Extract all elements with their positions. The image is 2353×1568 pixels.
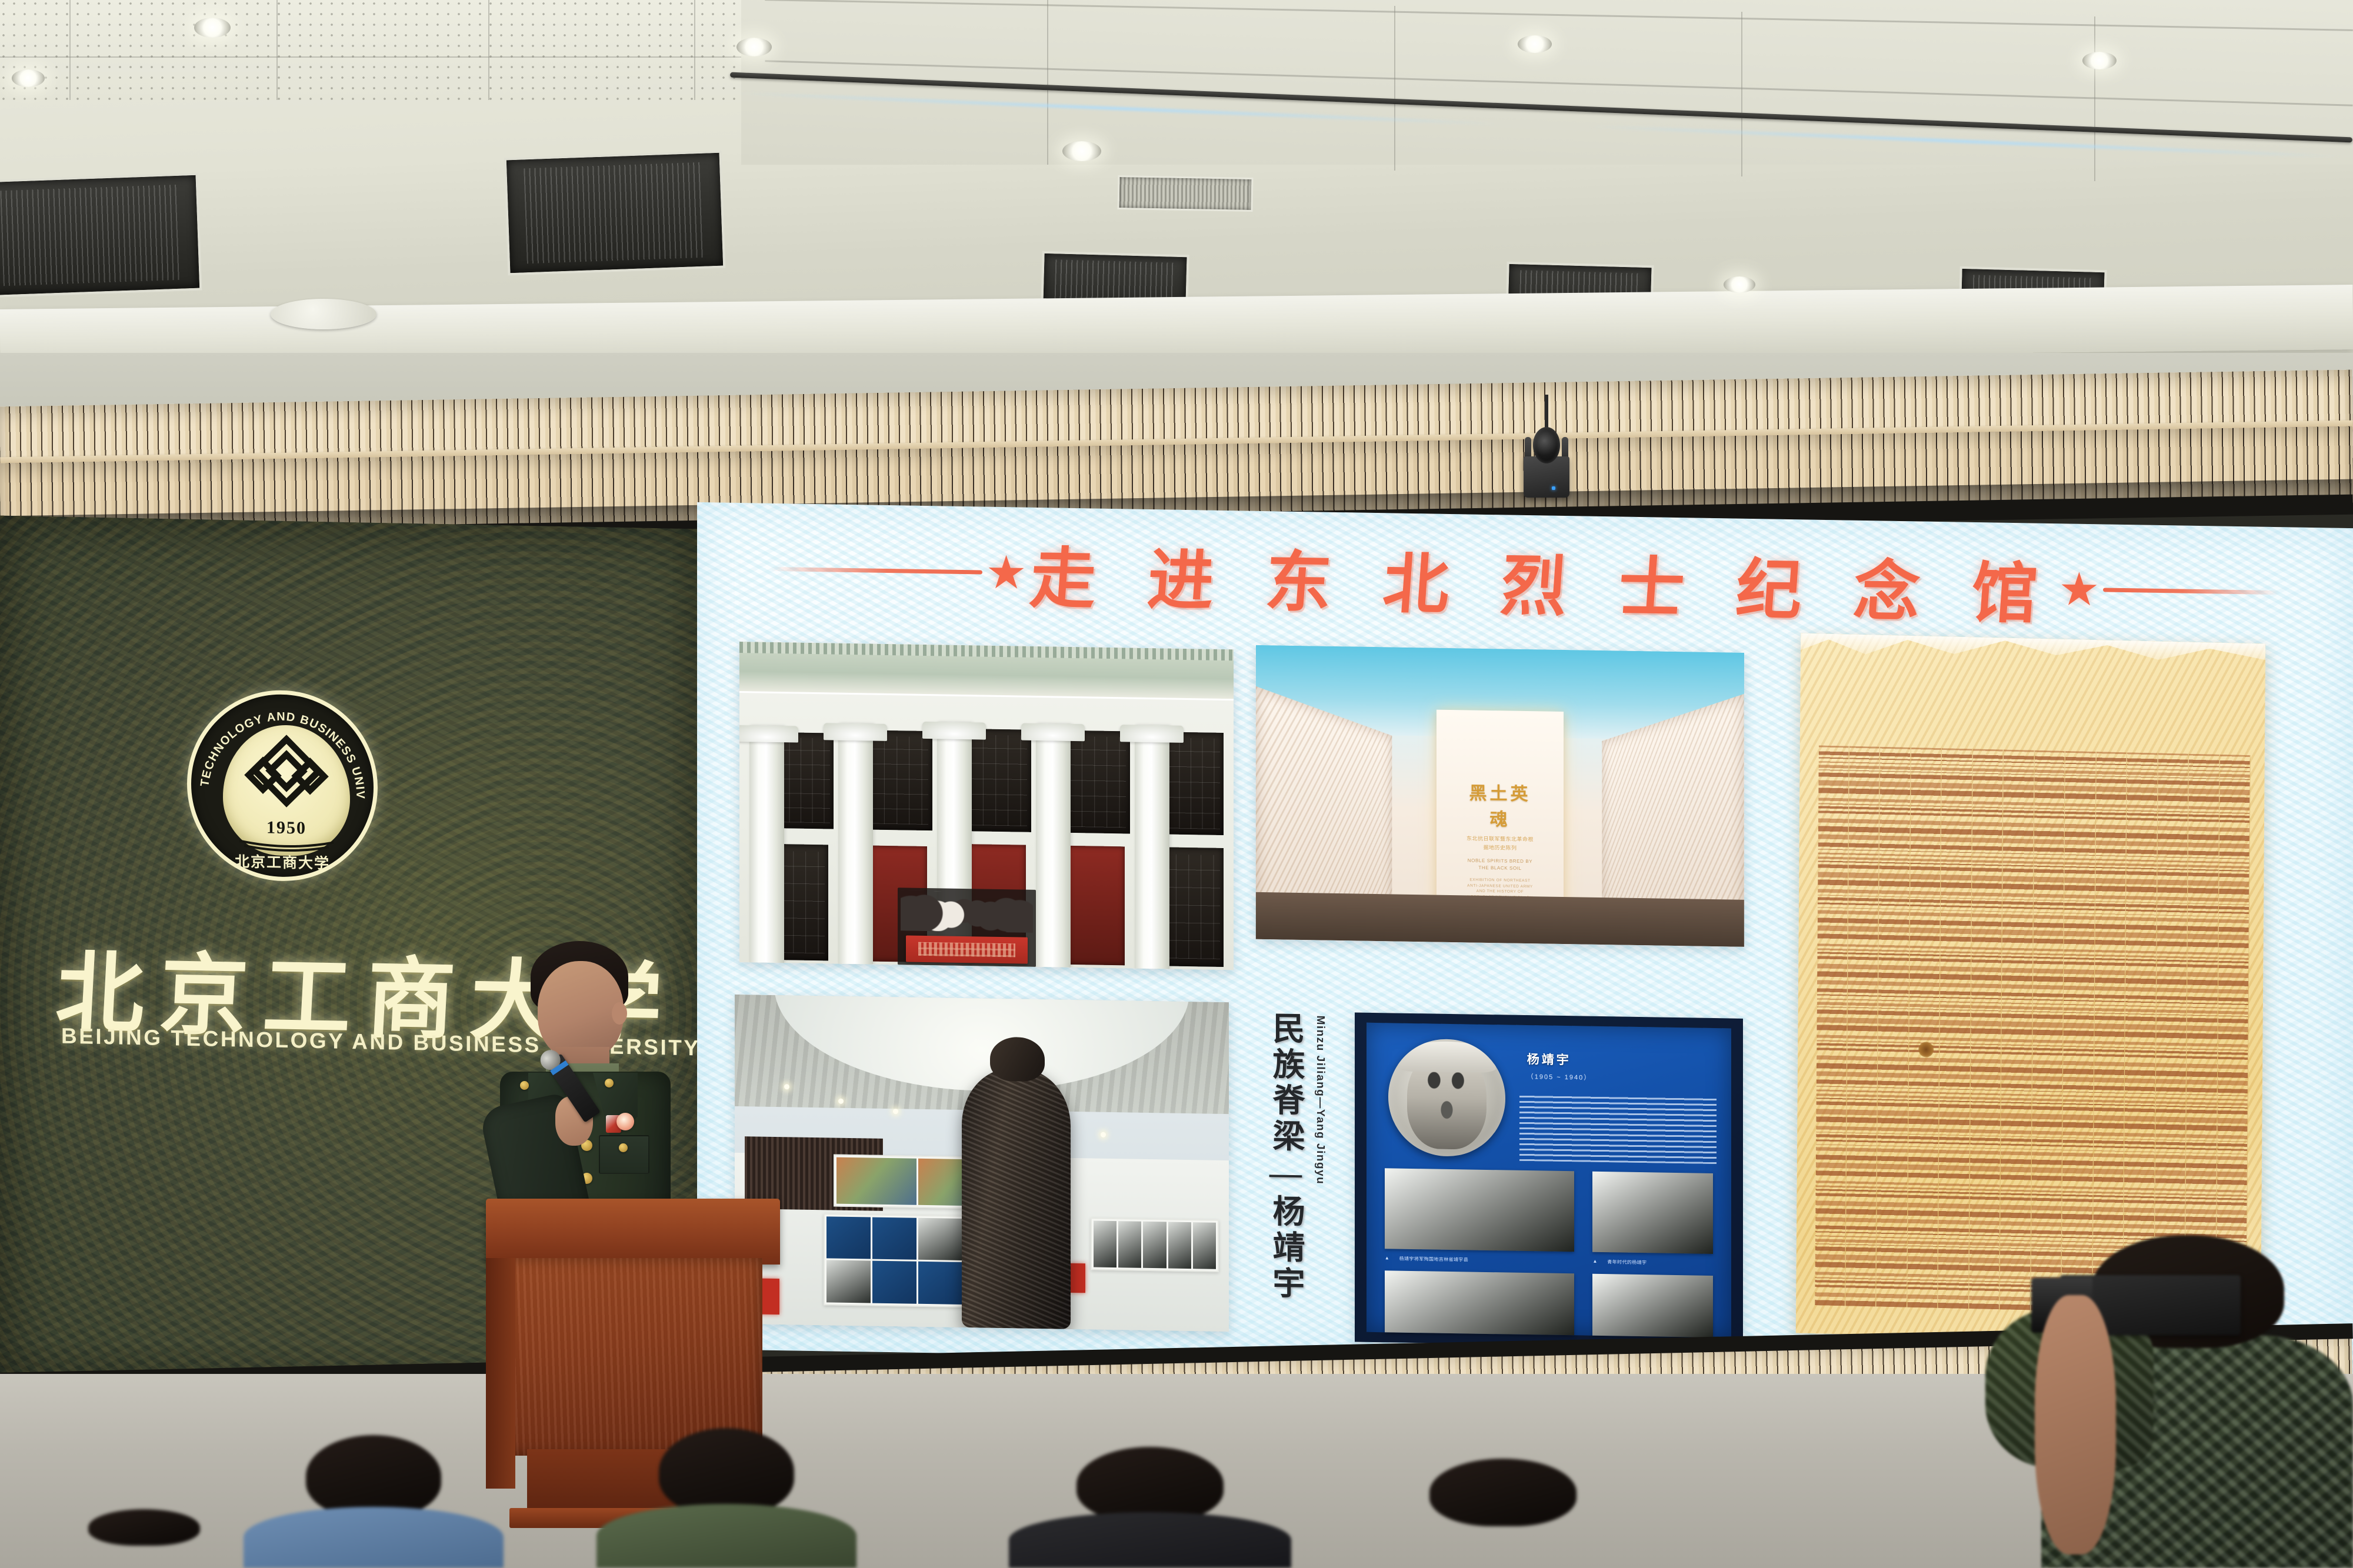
letter-column xyxy=(1969,749,2004,1310)
audience-head xyxy=(1076,1447,1224,1522)
letter-column xyxy=(2185,754,2219,1315)
hall-spotlight xyxy=(893,1109,898,1115)
photographer-hand xyxy=(2035,1295,2116,1554)
board-tile xyxy=(1193,1222,1216,1269)
podium-front-panel xyxy=(504,1258,762,1456)
auditorium-scene: BEIJING TECHNOLOGY AND BUSINESS UNIVERSI… xyxy=(0,0,2353,1568)
letter-column xyxy=(2092,752,2127,1312)
facade-window xyxy=(868,730,932,831)
photo-exhibition-entrance: 黑土英魂 东北抗日联军暨东北革命根据地历史陈列 NOBLE SPIRITS BR… xyxy=(1256,645,1744,947)
facade-dentil-course xyxy=(739,642,1234,660)
board-tile xyxy=(1118,1221,1141,1268)
hvac-supply-vent xyxy=(1118,175,1254,212)
star-icon: ★ xyxy=(986,549,1027,596)
yjy-archive-photo xyxy=(1592,1172,1713,1254)
yjy-portrait-cap xyxy=(1398,1041,1496,1073)
facade-window xyxy=(1065,730,1129,833)
hall-spotlight xyxy=(838,1098,844,1103)
speaker-ear xyxy=(612,1002,627,1025)
ceiling-downlight xyxy=(2082,52,2117,69)
facade-window xyxy=(966,729,1031,832)
letter-column xyxy=(1907,748,1942,1308)
yjy-caption-marker: ▲ xyxy=(1592,1258,1597,1263)
photographer xyxy=(2041,1235,2353,1568)
board-tile xyxy=(1094,1220,1116,1267)
yjy-photo-caption: 青年时代的杨靖宇 xyxy=(1607,1259,1647,1266)
audience-member xyxy=(88,1509,200,1568)
title-rule-right xyxy=(2103,588,2279,595)
audience-shoulders xyxy=(244,1507,504,1568)
star-icon: ★ xyxy=(2059,566,2100,612)
letter-column xyxy=(2124,753,2158,1313)
ceiling xyxy=(0,0,2353,376)
ceiling-tile-seam xyxy=(69,0,71,100)
audience-shoulders xyxy=(596,1504,856,1568)
board-tile xyxy=(872,1261,916,1304)
speaker-pocket-button xyxy=(619,1143,628,1152)
letter-text-columns xyxy=(1815,746,2251,1316)
letter-column xyxy=(2216,755,2251,1315)
board-tile xyxy=(872,1217,916,1260)
photo-memorial-hall-facade: 东 北 烈 士 纪 念 馆 xyxy=(739,642,1234,970)
audience-member xyxy=(1076,1447,1224,1568)
university-logo: BEIJING TECHNOLOGY AND BUSINESS UNIVERSI… xyxy=(187,689,378,883)
letter-column xyxy=(1845,746,1880,1307)
audience-member xyxy=(659,1428,794,1568)
ceiling-downlight xyxy=(1518,35,1552,53)
board-tile xyxy=(918,1262,962,1305)
yjy-photo-caption: 杨靖宇将军殉国地吉林省靖宇县 xyxy=(1399,1255,1469,1263)
audience-head xyxy=(1429,1459,1577,1526)
slide-title-row: ★ 走 进 东 北 烈 士 纪 念 馆 ★ xyxy=(697,529,2353,632)
smoke-detector-icon xyxy=(271,299,376,329)
letter-column xyxy=(1815,746,1849,1306)
photo-yang-jingyu-board: 杨靖宇 （1905 ~ 1940） ▲ 杨靖宇将军殉国地吉林省靖宇县 ▲ 青年时… xyxy=(1355,1012,1743,1347)
board-tile xyxy=(1168,1222,1191,1269)
ceiling-downlight xyxy=(736,38,772,56)
facade-column xyxy=(838,723,873,965)
ceiling-downlight xyxy=(194,18,231,38)
letter-column xyxy=(1877,747,1911,1307)
podium-side-panel xyxy=(486,1258,515,1489)
exhibit-floor xyxy=(1256,892,1744,947)
vertical-exhibit-label: 民族脊梁—杨靖宇 Minzu Jiliang—Yang Jingyu xyxy=(1244,1010,1344,1318)
speaker-shoulder-pip xyxy=(520,1081,529,1090)
vertical-label-cn: 民族脊梁—杨靖宇 xyxy=(1262,1011,1309,1302)
logo-knot-emblem xyxy=(232,733,341,818)
audience-shoulders xyxy=(1362,1517,1644,1568)
photo-statue-hall xyxy=(735,995,1229,1332)
yjy-biography-text xyxy=(1519,1093,1717,1164)
yjy-dates: （1905 ~ 1940） xyxy=(1527,1072,1591,1082)
facade-column xyxy=(1135,725,1169,969)
ceiling-downlight xyxy=(1062,141,1101,161)
hvac-vent xyxy=(504,151,726,276)
bronze-statue xyxy=(962,1067,1071,1329)
yjy-name: 杨靖宇 xyxy=(1527,1050,1571,1068)
ceiling-plane-seam xyxy=(1047,0,1048,165)
exhibit-title-cn: 黑土英魂 xyxy=(1466,779,1534,832)
yjy-portrait-medallion xyxy=(1388,1038,1505,1157)
exhibit-subtitle-cn: 东北抗日联军暨东北革命根据地历史陈列 xyxy=(1466,835,1534,853)
logo-founded-year: 1950 xyxy=(223,817,350,839)
facade-frieze xyxy=(739,642,1234,700)
facade-group-photo xyxy=(898,888,1036,966)
facade-column xyxy=(749,725,784,963)
ceiling-tile-seam xyxy=(276,0,278,100)
audience-head xyxy=(659,1428,794,1515)
board-tile xyxy=(1143,1221,1166,1268)
letter-column xyxy=(1938,748,1973,1309)
hall-exhibition-board xyxy=(1091,1217,1219,1272)
ceiling-plane-seam xyxy=(1741,12,1742,176)
exhibit-title-en: NOBLE SPIRITS BRED BY THE BLACK SOIL xyxy=(1466,857,1534,872)
speaker-flower-pin xyxy=(616,1113,634,1130)
speaker-chest-pocket xyxy=(599,1135,649,1174)
ceiling-downlight xyxy=(1724,276,1755,293)
ceiling-plane-seam xyxy=(1394,6,1395,171)
ceiling-tile-seam xyxy=(488,0,489,100)
ptz-camera-stem xyxy=(1545,395,1548,430)
ptz-camera-led xyxy=(1552,486,1555,490)
audience-member xyxy=(1429,1459,1577,1568)
vertical-label-en: Minzu Jiliang—Yang Jingyu xyxy=(1314,1015,1327,1185)
hvac-vent xyxy=(0,173,202,298)
speaker-shoulder-pip xyxy=(605,1079,614,1087)
letter-column xyxy=(2062,751,2097,1312)
letter-column xyxy=(2154,753,2189,1314)
statue-head xyxy=(990,1036,1044,1082)
yjy-archive-photo xyxy=(1592,1274,1713,1337)
podium-desktop xyxy=(486,1199,780,1265)
board-tile xyxy=(918,1217,962,1260)
exhibit-title-panel: 黑土英魂 东北抗日联军暨东北革命根据地历史陈列 NOBLE SPIRITS BR… xyxy=(1437,710,1564,918)
hall-spotlight xyxy=(1101,1132,1106,1137)
audience-shoulders xyxy=(1009,1512,1291,1568)
logo-shield: 1950 xyxy=(223,724,350,857)
logo-bottom-cn-text: 北京工商大学 xyxy=(191,849,374,874)
board-tile xyxy=(826,1260,871,1303)
ptz-camera[interactable] xyxy=(1524,427,1569,498)
audience-head xyxy=(306,1435,441,1517)
yjy-archive-photo xyxy=(1385,1168,1575,1252)
group-photo-red-banner xyxy=(906,936,1028,964)
letter-torn-edge xyxy=(1801,633,2265,672)
audience-head xyxy=(88,1509,200,1546)
slide-title: 走 进 东 北 烈 士 纪 念 馆 xyxy=(1027,525,2058,636)
title-rule-left xyxy=(771,566,982,574)
board-tile xyxy=(836,1157,916,1205)
letter-column xyxy=(2000,750,2035,1310)
facade-window xyxy=(1164,732,1224,835)
speaker-head xyxy=(538,961,624,1060)
board-tile xyxy=(826,1216,871,1259)
audience-member xyxy=(306,1435,441,1568)
group-photo-people xyxy=(901,891,1034,933)
yjy-board-surface: 杨靖宇 （1905 ~ 1940） ▲ 杨靖宇将军殉国地吉林省靖宇县 ▲ 青年时… xyxy=(1367,1023,1731,1338)
ceiling-plane-seam xyxy=(2094,16,2095,181)
exit-sign xyxy=(1071,1263,1085,1293)
facade-column xyxy=(1036,723,1071,968)
ceiling-tile-seam xyxy=(694,0,695,100)
letter-column xyxy=(2031,750,2065,1311)
yjy-archive-photo xyxy=(1385,1270,1575,1335)
yjy-caption-marker: ▲ xyxy=(1385,1255,1389,1260)
ceiling-downlight xyxy=(12,69,45,87)
